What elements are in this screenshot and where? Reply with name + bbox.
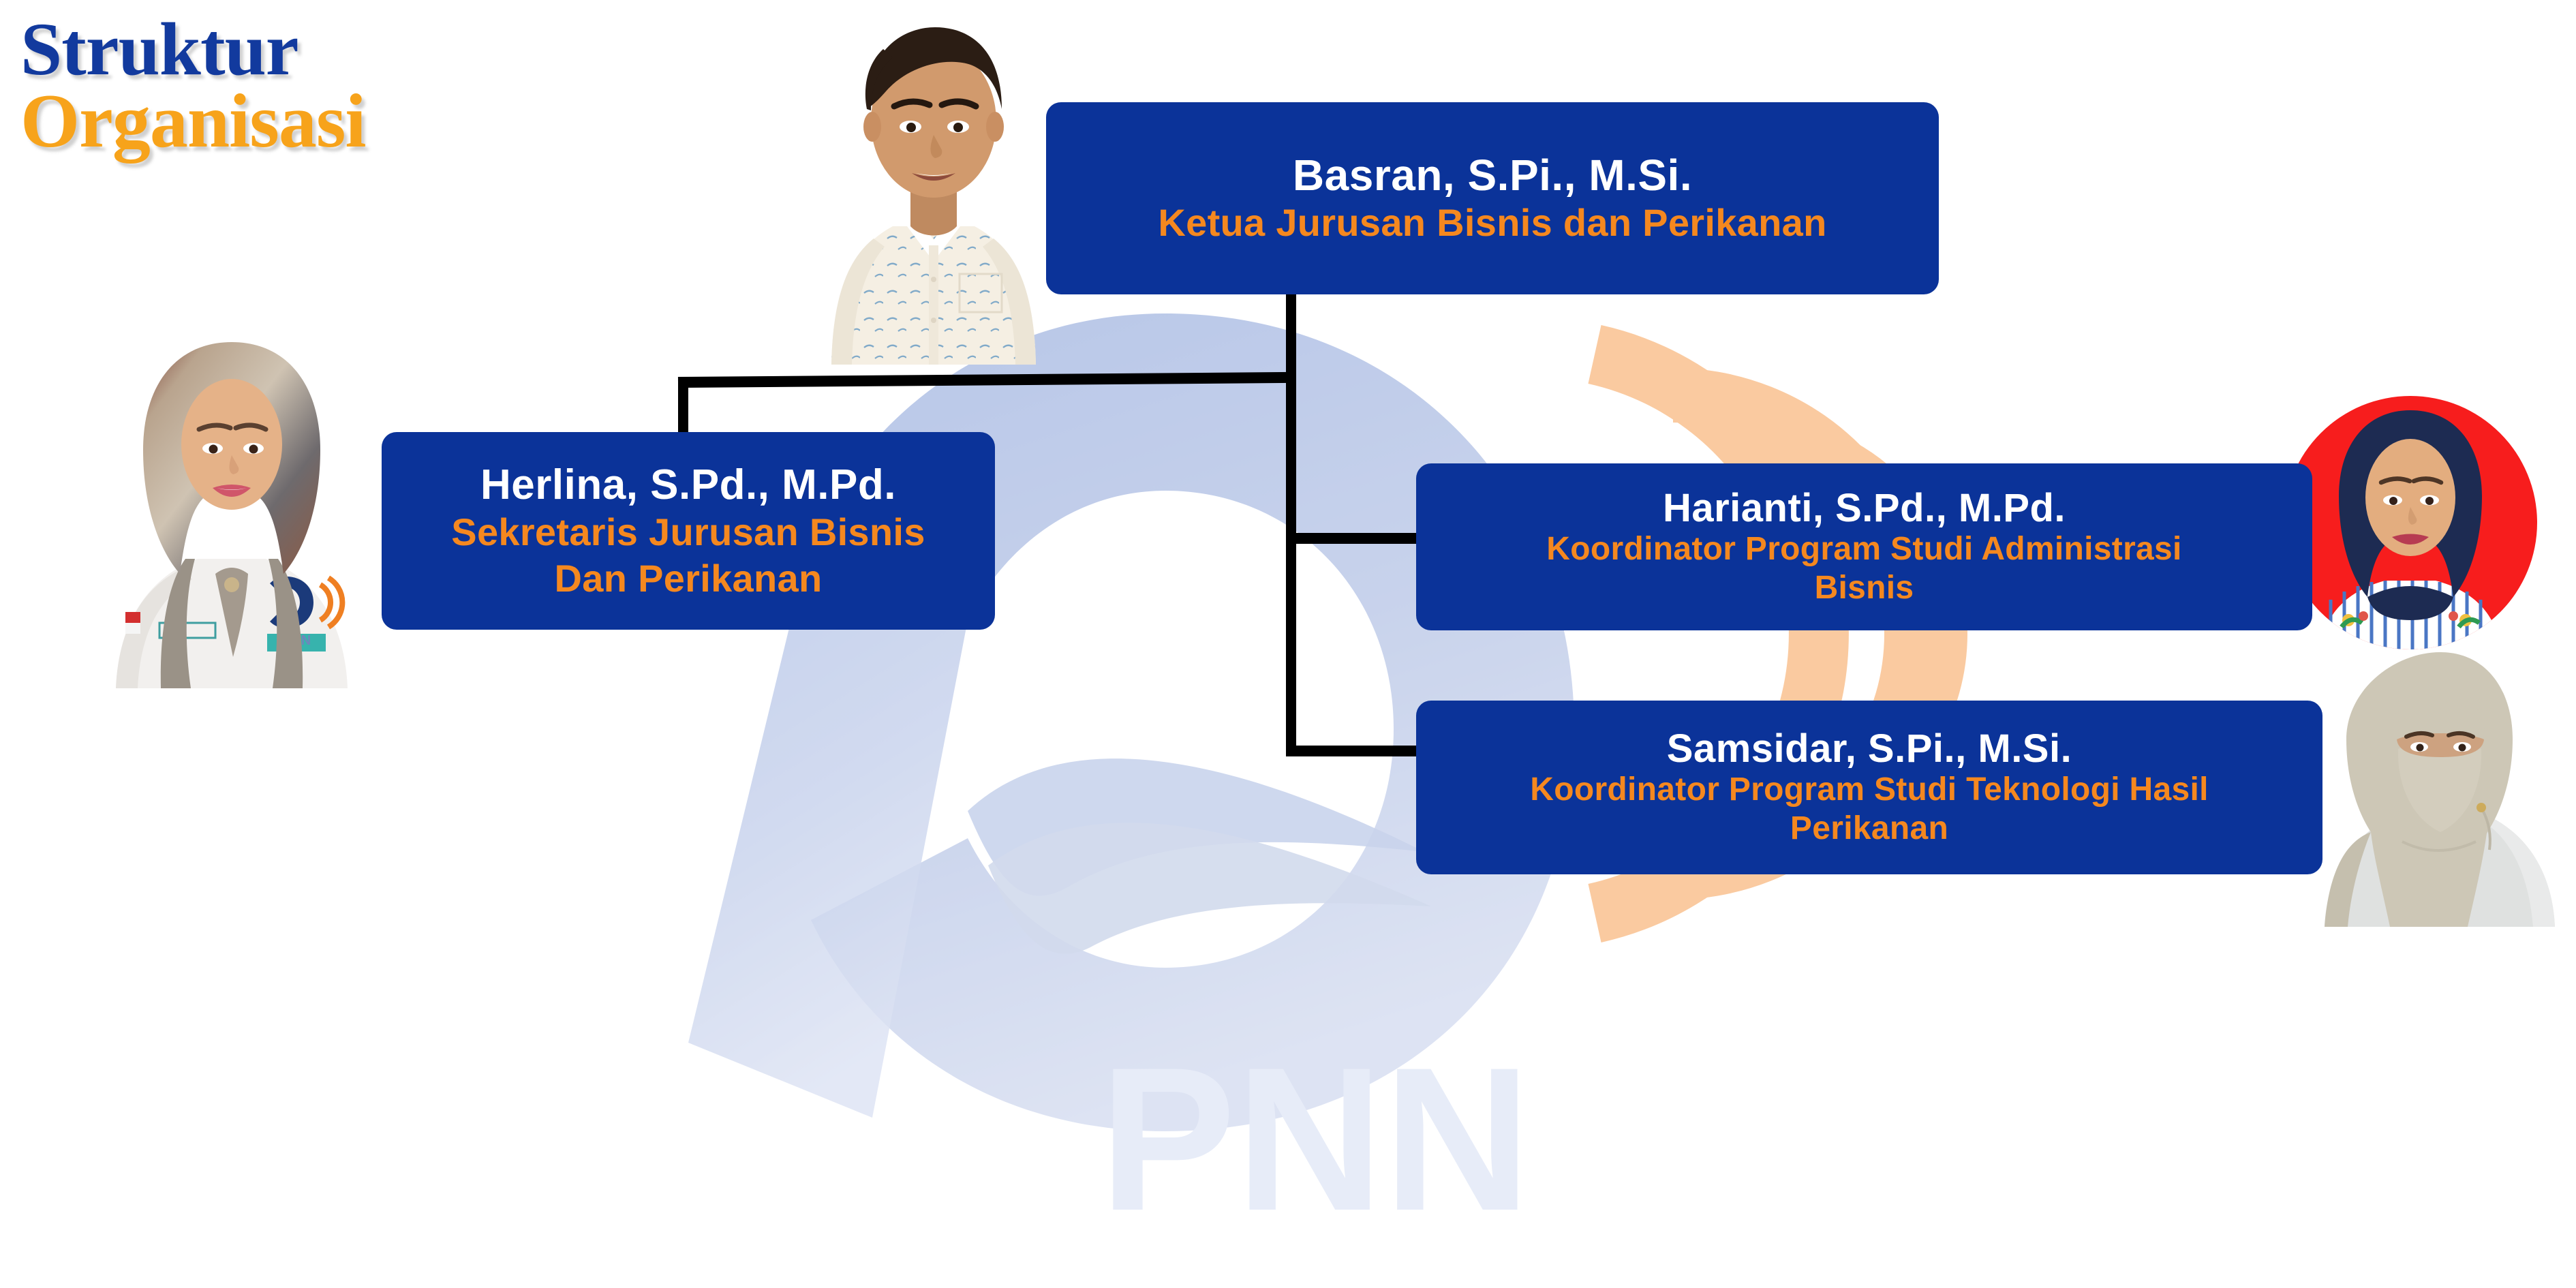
org-node-samsidar-name: Samsidar, S.Pi., M.Si. — [1667, 728, 2072, 769]
photo-herlina: PNN — [95, 334, 368, 688]
pnn-wordmark-text: PNN — [1099, 1049, 1531, 1253]
org-node-herlina[interactable]: Herlina, S.Pd., M.Pd. Sekretaris Jurusan… — [382, 432, 995, 630]
photo-samsidar — [2300, 637, 2576, 927]
pnn-wordmark-watermark: PNN — [975, 1049, 1656, 1254]
org-node-harianti-role-line-2: Bisnis — [1815, 570, 1914, 607]
org-node-harianti-name: Harianti, S.Pd., M.Pd. — [1663, 487, 2066, 529]
org-node-herlina-role-line-1: Sekretaris Jurusan Bisnis — [451, 511, 925, 553]
org-node-herlina-role-line-2: Dan Perikanan — [555, 557, 823, 600]
organization-chart-canvas: PNN Struktur Organisasi — [0, 0, 2576, 1288]
page-title-line-2: Organisasi — [20, 85, 366, 157]
connector-herlina-vertical — [678, 377, 688, 438]
org-node-basran-name: Basran, S.Pi., M.Si. — [1293, 153, 1692, 199]
photo-harianti — [2283, 395, 2539, 651]
org-node-samsidar-role-line-2: Perikanan — [1790, 811, 1948, 847]
connector-harianti-horizontal — [1291, 533, 1421, 544]
connector-trunk-vertical — [1286, 292, 1296, 756]
org-node-basran-role: Ketua Jurusan Bisnis dan Perikanan — [1158, 202, 1826, 244]
page-title-line-1: Struktur — [20, 14, 366, 85]
org-node-basran[interactable]: Basran, S.Pi., M.Si. Ketua Jurusan Bisni… — [1046, 102, 1939, 294]
org-node-harianti-role-line-1: Koordinator Program Studi Administrasi — [1546, 532, 2181, 568]
org-node-samsidar-role-line-1: Koordinator Program Studi Teknologi Hasi… — [1530, 772, 2208, 808]
page-title: Struktur Organisasi — [20, 14, 366, 157]
org-node-samsidar[interactable]: Samsidar, S.Pi., M.Si. Koordinator Progr… — [1416, 701, 2322, 874]
photo-basran — [791, 7, 1077, 365]
org-node-harianti[interactable]: Harianti, S.Pd., M.Pd. Koordinator Progr… — [1416, 463, 2312, 630]
connector-samsidar-horizontal — [1291, 746, 1421, 756]
connector-herlina-horizontal — [678, 372, 1291, 388]
org-node-herlina-name: Herlina, S.Pd., M.Pd. — [480, 463, 896, 508]
